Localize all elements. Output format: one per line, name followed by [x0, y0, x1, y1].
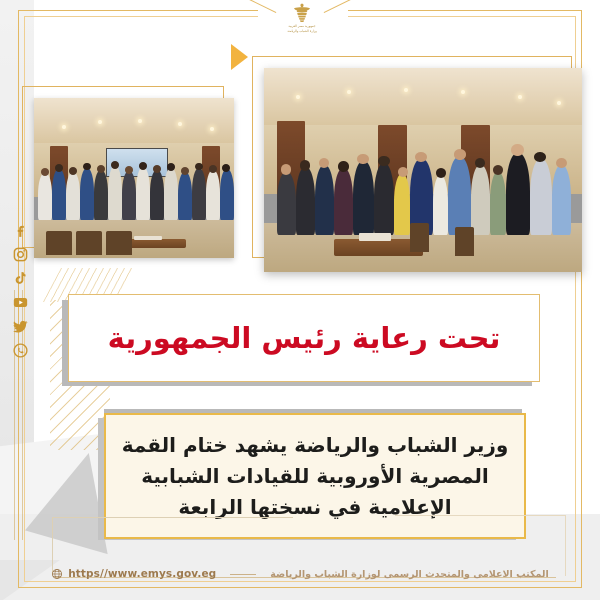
- footer-office-text: المكتب الاعلامى والمتحدث الرسمى لوزارة ا…: [270, 569, 548, 580]
- body-line: المصرية الأوروبية للقيادات الشبابية: [122, 461, 509, 492]
- play-arrow-icon: [231, 44, 248, 70]
- photo-group-ceremony-scene: [34, 98, 234, 258]
- eagle-glyph: [291, 2, 313, 24]
- body-line: وزير الشباب والرياضة يشهد ختام القمة: [122, 430, 509, 461]
- photo-officials-standing-scene: [264, 68, 582, 272]
- globe-icon: [51, 568, 63, 580]
- instagram-icon[interactable]: [12, 246, 29, 263]
- facebook-icon[interactable]: [12, 222, 29, 239]
- youtube-icon[interactable]: [12, 294, 29, 311]
- footer: https//www.emys.gov.eg المكتب الاعلامى و…: [0, 562, 600, 586]
- tiktok-icon[interactable]: [12, 270, 29, 287]
- footer-dash: [230, 574, 256, 575]
- social-rail: [7, 222, 33, 359]
- announcement-card: جمهورية مصر العربية وزارة الشباب والرياض…: [0, 0, 600, 600]
- footer-website-link[interactable]: https//www.emys.gov.eg: [51, 568, 216, 580]
- body-text: وزير الشباب والرياضة يشهد ختام القمة الم…: [112, 430, 519, 523]
- emblem-caption-line2: وزارة الشباب والرياضة: [287, 30, 316, 34]
- twitter-icon[interactable]: [12, 318, 29, 335]
- headline-card: تحت رعاية رئيس الجمهورية: [68, 294, 540, 382]
- whatsapp-icon[interactable]: [12, 342, 29, 359]
- photo-officials-standing: [264, 68, 582, 272]
- photo-group-ceremony: [34, 98, 234, 258]
- egypt-eagle-emblem: جمهورية مصر العربية وزارة الشباب والرياض…: [274, 2, 330, 40]
- footer-url-text: https//www.emys.gov.eg: [68, 568, 216, 580]
- headline-text: تحت رعاية رئيس الجمهورية: [108, 320, 501, 356]
